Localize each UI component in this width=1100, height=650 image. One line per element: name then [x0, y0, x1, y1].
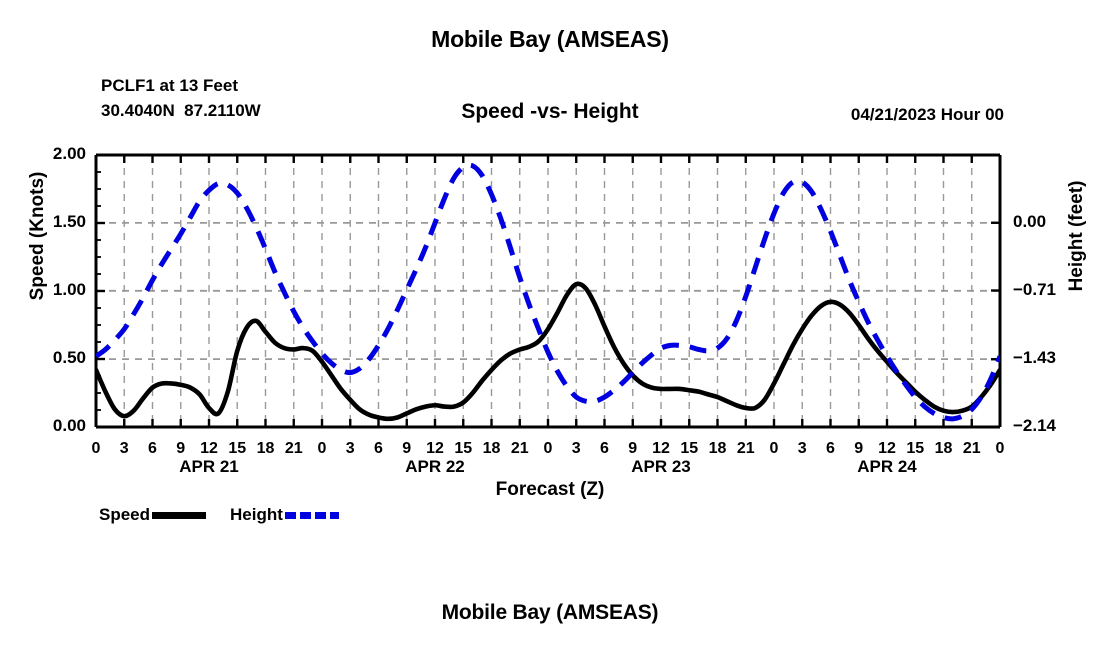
- x-tick-label: 6: [816, 440, 846, 458]
- chart-bottom-title: Mobile Bay (AMSEAS): [0, 601, 1100, 625]
- x-tick-label: 9: [166, 440, 196, 458]
- y-tick-label-left: 2.00: [16, 144, 86, 164]
- x-tick-label: 6: [590, 440, 620, 458]
- legend-label-height: Height: [230, 505, 283, 525]
- x-tick-label: 0: [307, 440, 337, 458]
- x-axis-day-label: APR 22: [375, 457, 495, 477]
- legend-swatch-height-icon: [285, 512, 339, 519]
- x-tick-label: 12: [872, 440, 902, 458]
- x-tick-label: 21: [279, 440, 309, 458]
- y-tick-label-left: 0.00: [16, 416, 86, 436]
- y-tick-label-left: 1.50: [16, 212, 86, 232]
- legend-item-height: Height: [230, 505, 339, 525]
- x-tick-label: 12: [194, 440, 224, 458]
- chart-figure: Mobile Bay (AMSEAS) PCLF1 at 13 Feet30.4…: [0, 0, 1100, 650]
- x-tick-label: 18: [929, 440, 959, 458]
- plot-area: [0, 0, 1100, 650]
- x-tick-label: 3: [787, 440, 817, 458]
- x-tick-label: 9: [618, 440, 648, 458]
- x-tick-label: 9: [392, 440, 422, 458]
- y-tick-label-right: −0.71: [1013, 280, 1093, 300]
- legend-item-speed: Speed: [99, 505, 230, 525]
- x-tick-label: 3: [561, 440, 591, 458]
- x-tick-label: 0: [533, 440, 563, 458]
- x-tick-label: 0: [759, 440, 789, 458]
- x-tick-label: 18: [703, 440, 733, 458]
- legend-label-speed: Speed: [99, 505, 150, 525]
- y-tick-label-right: −2.14: [1013, 416, 1093, 436]
- x-axis-day-label: APR 21: [149, 457, 269, 477]
- chart-legend: Speed Height: [99, 504, 339, 526]
- x-axis-day-label: APR 23: [601, 457, 721, 477]
- x-tick-label: 3: [109, 440, 139, 458]
- y-tick-label-left: 0.50: [16, 348, 86, 368]
- x-tick-label: 12: [420, 440, 450, 458]
- x-tick-label: 21: [731, 440, 761, 458]
- x-tick-label: 15: [674, 440, 704, 458]
- x-axis-day-label: APR 24: [827, 457, 947, 477]
- y-axis-label-right: Height (feet): [1066, 136, 1088, 336]
- x-tick-label: 15: [900, 440, 930, 458]
- x-tick-label: 18: [477, 440, 507, 458]
- x-tick-label: 6: [138, 440, 168, 458]
- x-axis-label: Forecast (Z): [0, 479, 1100, 501]
- x-tick-label: 12: [646, 440, 676, 458]
- legend-swatch-speed-icon: [152, 512, 206, 519]
- x-tick-label: 0: [81, 440, 111, 458]
- y-tick-label-right: −1.43: [1013, 348, 1093, 368]
- x-tick-label: 15: [222, 440, 252, 458]
- y-tick-label-left: 1.00: [16, 280, 86, 300]
- x-tick-label: 6: [364, 440, 394, 458]
- y-tick-label-right: 0.00: [1013, 212, 1093, 232]
- x-tick-label: 15: [448, 440, 478, 458]
- x-tick-label: 21: [505, 440, 535, 458]
- y-axis-label-left: Speed (Knots): [27, 136, 49, 336]
- x-tick-label: 9: [844, 440, 874, 458]
- x-tick-label: 21: [957, 440, 987, 458]
- x-tick-label: 0: [985, 440, 1015, 458]
- x-tick-label: 3: [335, 440, 365, 458]
- x-tick-label: 18: [251, 440, 281, 458]
